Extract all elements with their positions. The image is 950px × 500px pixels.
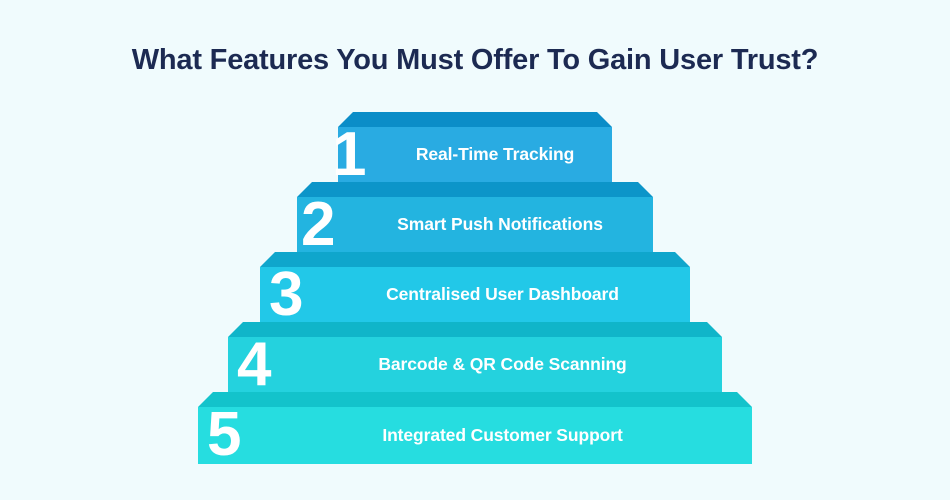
step-label: Real-Time Tracking <box>378 144 612 165</box>
step-label: Smart Push Notifications <box>347 214 653 235</box>
step-top-face <box>338 112 612 127</box>
step-label: Barcode & QR Code Scanning <box>283 354 722 375</box>
step-number: 2 <box>301 194 333 256</box>
step-label: Centralised User Dashboard <box>315 284 690 305</box>
pyramid-step: 1Real-Time Tracking <box>0 112 950 182</box>
pyramid-step: 5Integrated Customer Support <box>0 392 950 464</box>
step-top-face <box>260 252 690 267</box>
pyramid-chart: 1Real-Time Tracking2Smart Push Notificat… <box>0 112 950 482</box>
pyramid-step: 3Centralised User Dashboard <box>0 252 950 322</box>
step-top-face <box>297 182 653 197</box>
step-number: 4 <box>237 334 269 396</box>
step-number: 3 <box>269 264 301 326</box>
step-number: 1 <box>332 124 364 186</box>
step-label: Integrated Customer Support <box>253 425 752 446</box>
pyramid-step: 4Barcode & QR Code Scanning <box>0 322 950 392</box>
page-title: What Features You Must Offer To Gain Use… <box>0 44 950 77</box>
step-top-face <box>198 392 752 407</box>
step-top-face <box>228 322 722 337</box>
step-number: 5 <box>207 404 239 466</box>
pyramid-step: 2Smart Push Notifications <box>0 182 950 252</box>
